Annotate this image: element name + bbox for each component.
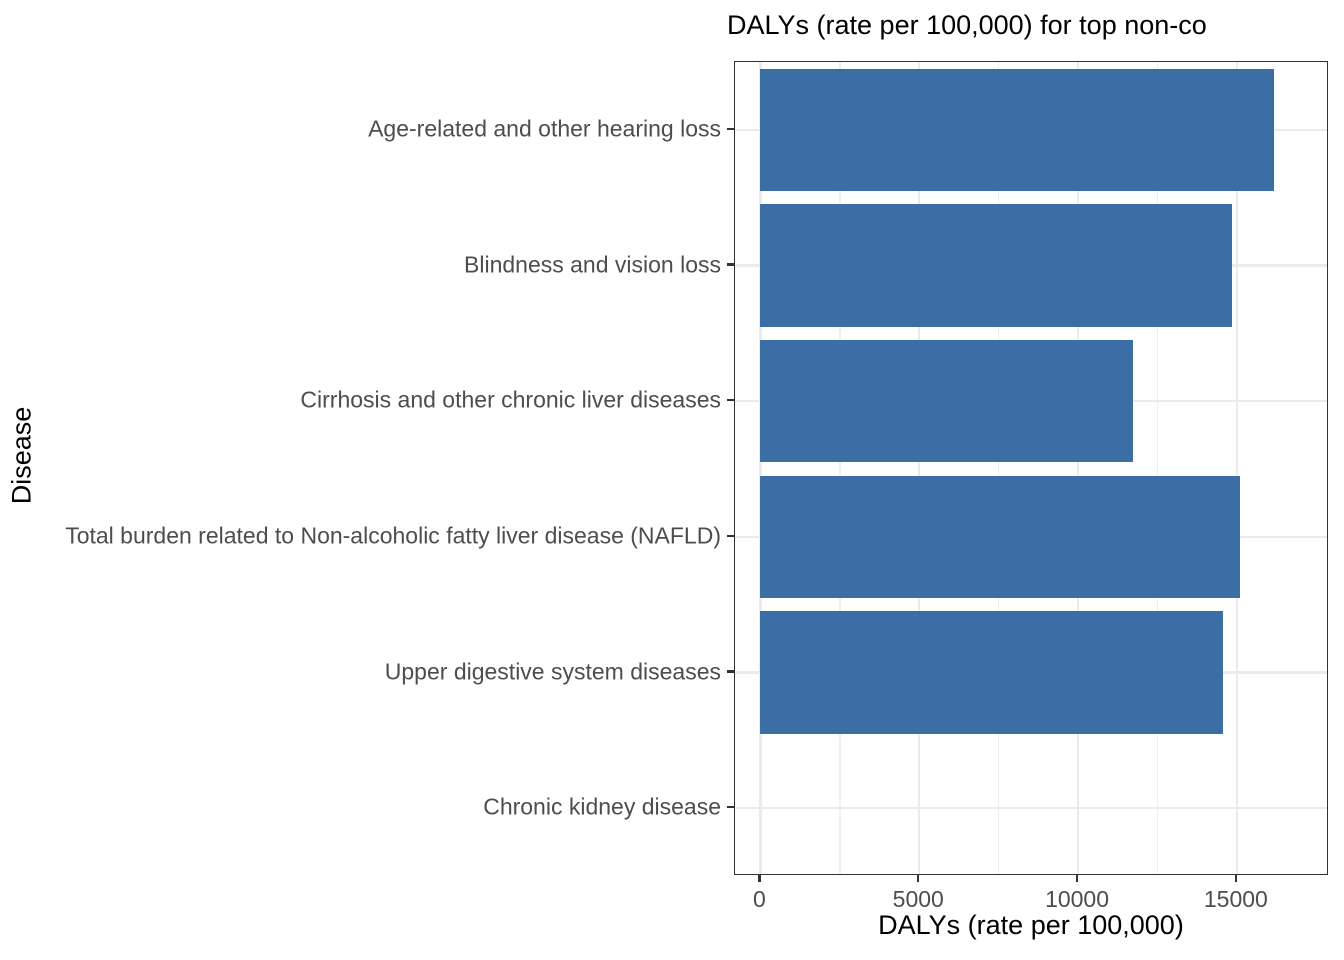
chart-title: DALYs (rate per 100,000) for top non-co bbox=[727, 8, 1344, 42]
y-axis-tick bbox=[727, 399, 734, 401]
x-axis-tick bbox=[1076, 875, 1078, 882]
plot-area bbox=[735, 62, 1327, 874]
y-axis-tick-label: Upper digestive system diseases bbox=[0, 658, 721, 685]
x-axis-tick-label: 5000 bbox=[893, 886, 944, 913]
bar[interactable] bbox=[760, 204, 1232, 326]
y-axis-tick bbox=[727, 806, 734, 808]
chart-container: DALYs (rate per 100,000) for top non-co … bbox=[0, 0, 1344, 960]
bar[interactable] bbox=[760, 340, 1133, 462]
x-axis-tick-label: 10000 bbox=[1045, 886, 1109, 913]
y-axis-tick-label: Blindness and vision loss bbox=[0, 251, 721, 278]
y-axis-tick-label: Chronic kidney disease bbox=[0, 794, 721, 821]
y-axis-tick-label: Cirrhosis and other chronic liver diseas… bbox=[0, 387, 721, 414]
plot-panel bbox=[734, 61, 1328, 875]
y-axis-tick bbox=[727, 670, 734, 672]
y-axis-tick-label: Total burden related to Non-alcoholic fa… bbox=[0, 522, 721, 549]
bar[interactable] bbox=[760, 69, 1273, 191]
bar[interactable] bbox=[760, 476, 1239, 598]
y-axis-tick bbox=[727, 535, 734, 537]
x-axis-tick-label: 0 bbox=[753, 886, 766, 913]
x-axis-tick-label: 15000 bbox=[1204, 886, 1268, 913]
y-axis-tick bbox=[727, 128, 734, 130]
bar[interactable] bbox=[760, 611, 1222, 733]
x-axis-tick bbox=[1235, 875, 1237, 882]
x-axis-tick bbox=[917, 875, 919, 882]
x-axis-tick bbox=[758, 875, 760, 882]
gridline-horizontal-major bbox=[735, 807, 1327, 809]
x-axis-title: DALYs (rate per 100,000) bbox=[734, 910, 1328, 941]
y-axis-tick bbox=[727, 263, 734, 265]
y-axis-tick-label: Age-related and other hearing loss bbox=[0, 115, 721, 142]
